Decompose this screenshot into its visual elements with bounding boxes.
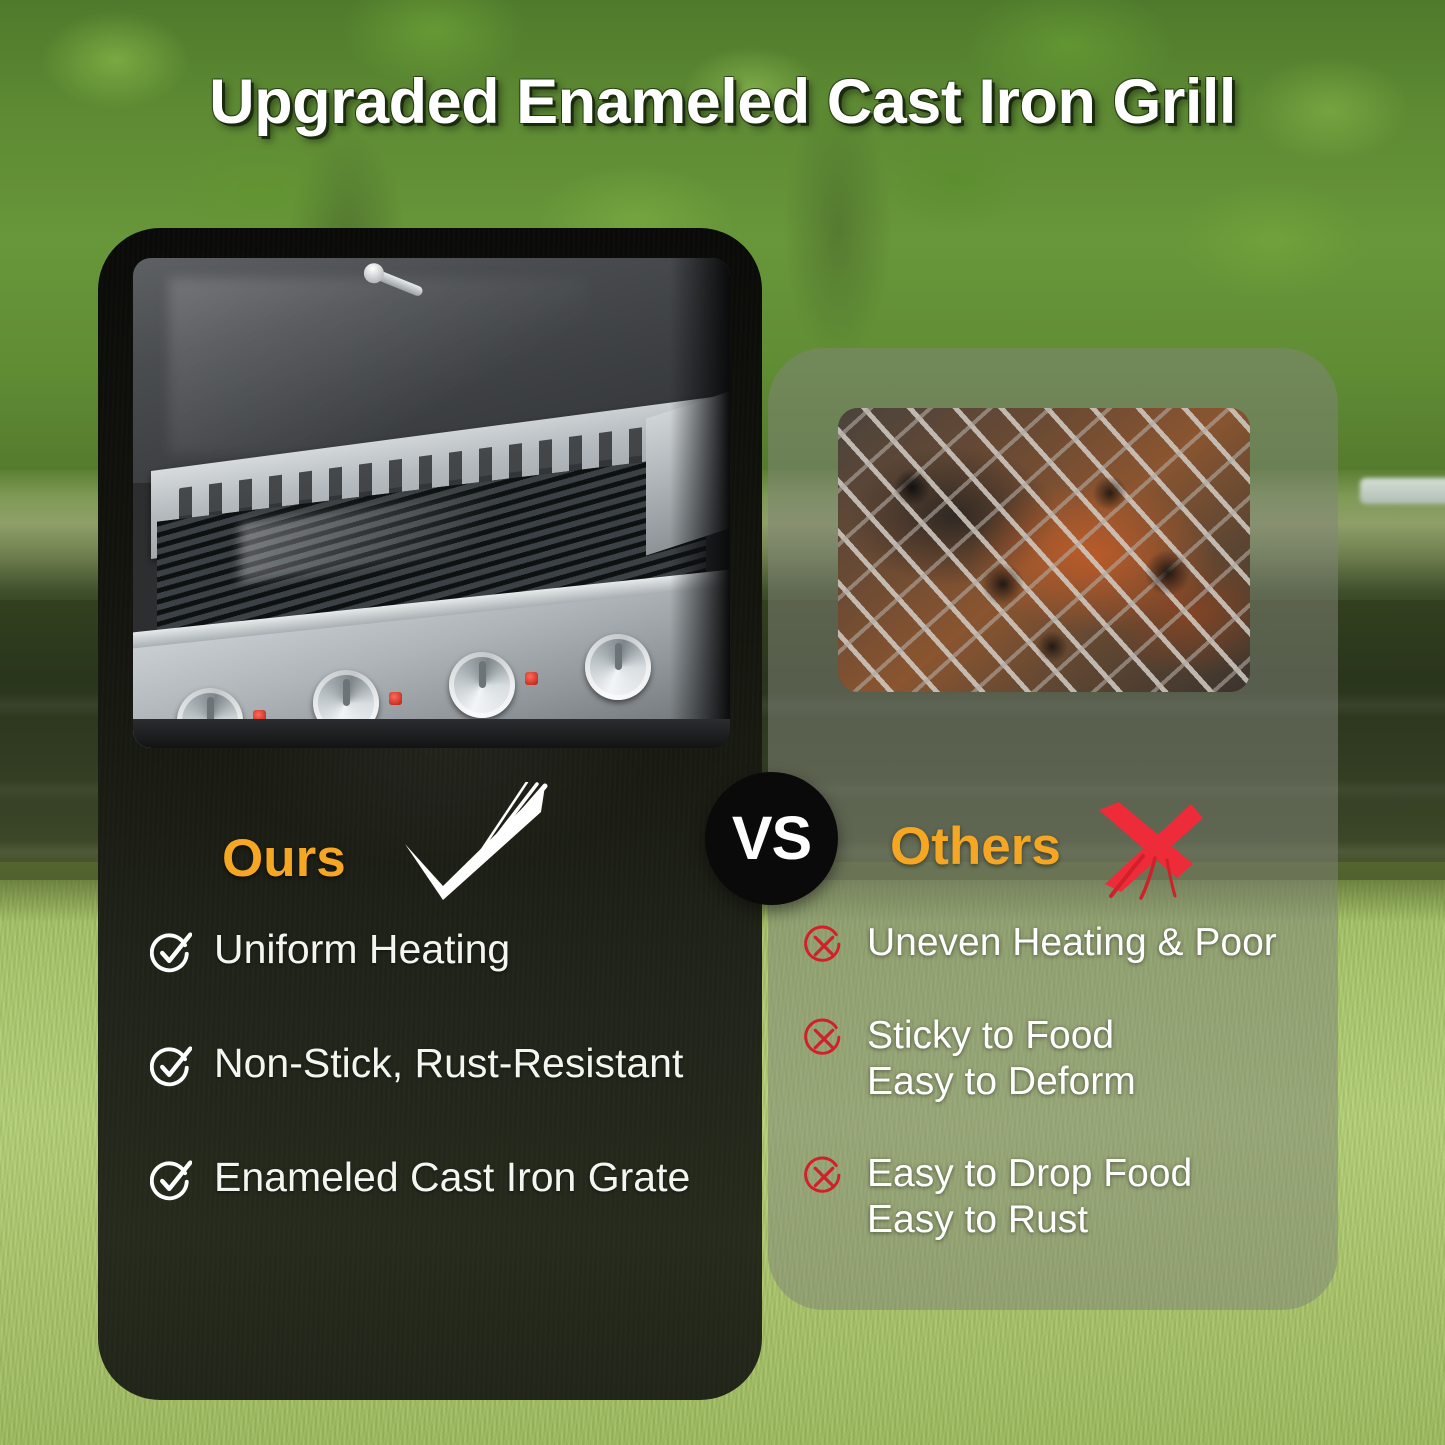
- list-item-label: Easy to Drop Food: [867, 1151, 1192, 1197]
- circle-check-icon: [150, 1046, 192, 1088]
- rusty-grate-char-residue: [838, 408, 1250, 692]
- ours-product-photo: [133, 258, 730, 748]
- cross-mark-icon: [1085, 800, 1205, 900]
- list-item-text-block: Easy to Drop Food Easy to Rust: [867, 1151, 1192, 1243]
- circle-check-icon: [150, 932, 192, 974]
- circle-check-icon: [150, 1160, 192, 1202]
- list-item: Enameled Cast Iron Grate: [150, 1156, 730, 1202]
- vs-badge: VS: [705, 772, 838, 905]
- background-boat: [1360, 478, 1445, 504]
- vs-badge-label: VS: [732, 808, 811, 869]
- ours-heading: Ours: [222, 832, 346, 885]
- list-item-label: Uniform Heating: [214, 928, 510, 971]
- grill-control-knob: [585, 634, 651, 700]
- grill-photo-shadow: [670, 258, 730, 748]
- list-item: Easy to Drop Food Easy to Rust: [803, 1151, 1328, 1243]
- circle-cross-icon: [803, 1156, 845, 1198]
- grill-knob-led-icon: [525, 672, 538, 685]
- others-feature-list: Uneven Heating & Poor Sticky to Food Eas…: [803, 920, 1328, 1289]
- list-item-label: Uneven Heating & Poor: [867, 920, 1277, 966]
- circle-cross-icon: [803, 1018, 845, 1060]
- others-product-photo: [838, 408, 1250, 692]
- check-mark-icon: [395, 782, 555, 902]
- list-item: Uniform Heating: [150, 928, 730, 974]
- list-item: Sticky to Food Easy to Deform: [803, 1013, 1328, 1105]
- list-item-text-block: Uneven Heating & Poor: [867, 920, 1277, 966]
- circle-cross-icon: [803, 925, 845, 967]
- list-item-label: Enameled Cast Iron Grate: [214, 1156, 690, 1199]
- infographic-root: Upgraded Enameled Cast Iron Grill Our: [0, 0, 1445, 1445]
- grill-knob-led-icon: [389, 692, 402, 705]
- list-item-label: Sticky to Food: [867, 1013, 1136, 1059]
- list-item-label-2: Easy to Rust: [867, 1197, 1192, 1243]
- list-item-label: Non-Stick, Rust-Resistant: [214, 1042, 683, 1085]
- list-item: Non-Stick, Rust-Resistant: [150, 1042, 730, 1088]
- grill-control-knob: [449, 652, 515, 718]
- list-item: Uneven Heating & Poor: [803, 920, 1328, 967]
- list-item-text-block: Sticky to Food Easy to Deform: [867, 1013, 1136, 1105]
- list-item-label-2: Easy to Deform: [867, 1059, 1136, 1105]
- grill-cart-base: [133, 719, 730, 748]
- others-heading: Others: [890, 820, 1061, 873]
- ours-feature-list: Uniform Heating Non-Stick, Rust-Resistan…: [150, 928, 730, 1270]
- page-title: Upgraded Enameled Cast Iron Grill: [0, 66, 1445, 138]
